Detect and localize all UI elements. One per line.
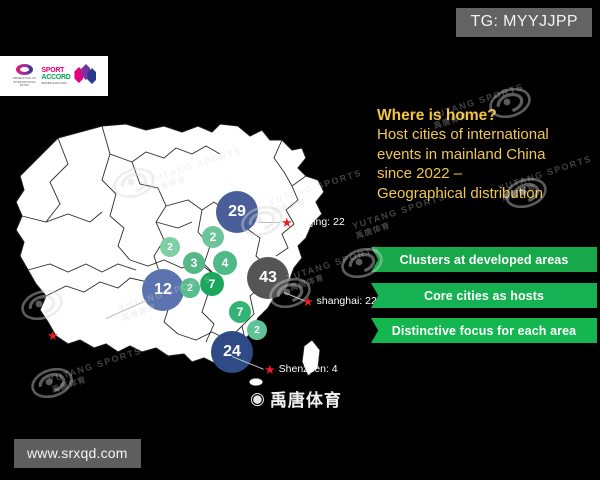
headline-line-1: Host cities of international (377, 125, 592, 145)
bubble-value: 7 (209, 277, 216, 291)
map-bubble-7-7[interactable]: 7 (200, 272, 224, 296)
bubble-value: 3 (191, 256, 198, 270)
bubble-value: 2 (210, 230, 217, 244)
map-bubble-2-8[interactable]: 2 (180, 278, 200, 298)
city-pin-shanghai[interactable]: ★shanghai: 22 (302, 295, 377, 307)
federation-ring-icon (16, 64, 33, 75)
map-bubble-2-11[interactable]: 2 (247, 320, 267, 340)
sport-accord-line1: SPORT (42, 67, 71, 74)
federation-logo-caption: FEDERATION OF INTERNATIONAL SPORT (12, 77, 38, 87)
star-icon: ★ (47, 330, 59, 341)
map-bubble-29-0[interactable]: 29 (216, 191, 258, 233)
map-bubble-7-10[interactable]: 7 (229, 301, 251, 323)
bubble-value: 12 (154, 281, 172, 299)
federation-logo: FEDERATION OF INTERNATIONAL SPORT (12, 63, 38, 89)
bubble-value: 2 (187, 283, 193, 294)
star-icon: ★ (281, 217, 293, 228)
city-pin-shenzhen[interactable]: ★Shenzhen: 4 (264, 363, 338, 375)
banner-distinctive[interactable]: Distinctive focus for each area (371, 318, 597, 343)
city-pin-label: Shenzhen: 4 (279, 363, 338, 375)
leader-line-beijing (258, 222, 280, 223)
city-pin-beijing[interactable]: ★Beijing: 22 (281, 216, 345, 228)
weibo-icon: ◉ (250, 390, 265, 407)
bubble-value: 2 (167, 242, 173, 253)
tg-badge: TG: MYYJJPP (456, 8, 592, 37)
banner-clusters[interactable]: Clusters at developed areas (371, 247, 597, 272)
banner-core-cities[interactable]: Core cities as hosts (371, 283, 597, 308)
bubble-value: 29 (228, 203, 246, 221)
hexagon-emblem-icon (74, 64, 96, 88)
slide-canvas: 2912432423472272 ★Beijing: 22★shanghai: … (0, 0, 600, 480)
map-bubble-2-9[interactable]: 2 (160, 237, 180, 257)
china-bubble-map (6, 96, 386, 406)
bubble-value: 4 (222, 256, 229, 270)
headline-block: Where is home? Host cities of internatio… (377, 106, 592, 203)
sport-accord-line2: ACCORD (42, 74, 71, 81)
sport-accord-line3: BIRMINGHAM 2024 (42, 82, 71, 85)
sport-accord-logo: SPORT ACCORD BIRMINGHAM 2024 (42, 67, 71, 85)
weibo-account-name: 禹唐体育 (270, 386, 342, 411)
headline-line-3: since 2022 – (377, 164, 592, 184)
bubble-value: 2 (254, 325, 260, 336)
bubble-value: 43 (259, 269, 277, 287)
star-icon: ★ (302, 296, 314, 307)
source-url-badge: www.srxqd.com (14, 439, 141, 468)
map-bubble-2-4[interactable]: 2 (202, 226, 224, 248)
city-pin-label: Beijing: 22 (296, 216, 345, 228)
headline-line-2: events in mainland China (377, 145, 592, 165)
map-bubble-24-3[interactable]: 24 (211, 331, 253, 373)
weibo-watermark: ◉ 禹唐体育 (250, 386, 342, 411)
city-pin-label: Chengdu: 6 (62, 329, 116, 341)
partner-logo-strip: FEDERATION OF INTERNATIONAL SPORT SPORT … (0, 56, 108, 96)
china-map-svg (6, 96, 386, 406)
map-bubble-3-5[interactable]: 3 (183, 252, 205, 274)
headline-line-4: Geographical distribution (377, 184, 592, 204)
headline-title: Where is home? (377, 106, 592, 125)
star-icon: ★ (264, 364, 276, 375)
map-bubble-4-6[interactable]: 4 (213, 251, 237, 275)
map-bubble-12-1[interactable]: 12 (142, 269, 184, 311)
city-pin-label: shanghai: 22 (317, 295, 377, 307)
bubble-value: 7 (237, 305, 244, 319)
city-pin-chengdu[interactable]: ★Chengdu: 6 (47, 329, 116, 341)
